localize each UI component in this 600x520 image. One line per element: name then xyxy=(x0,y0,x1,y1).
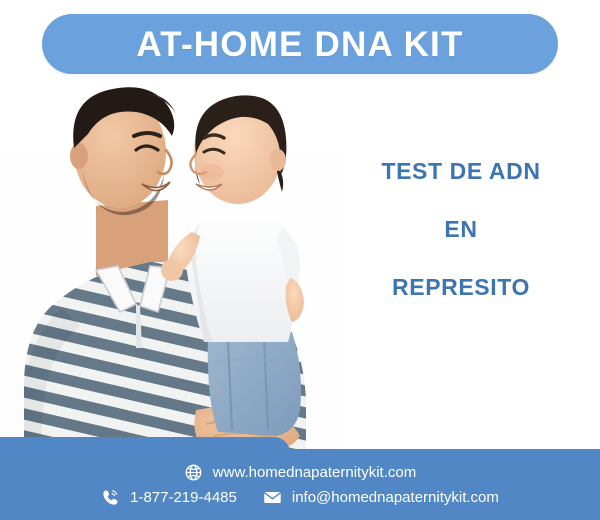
website-label: www.homednapaternitykit.com xyxy=(213,465,416,480)
poster: AT-HOME DNA KIT xyxy=(0,0,600,520)
header-banner: AT-HOME DNA KIT xyxy=(42,14,558,74)
headline-line-3: REPRESITO xyxy=(330,276,592,299)
footer-row-website: www.homednapaternitykit.com xyxy=(184,463,416,482)
headline-line-1: TEST DE ADN xyxy=(330,160,592,183)
email-label: info@homednapaternitykit.com xyxy=(292,490,499,505)
phone-item[interactable]: 1-877-219-4485 xyxy=(101,488,237,507)
footer-row-phone-email: 1-877-219-4485 info@homednapaternitykit.… xyxy=(101,488,499,507)
phone-label: 1-877-219-4485 xyxy=(130,490,237,505)
envelope-icon xyxy=(263,488,282,507)
website-item[interactable]: www.homednapaternitykit.com xyxy=(184,463,416,482)
page-title: AT-HOME DNA KIT xyxy=(136,27,463,62)
footer-contact-info: www.homednapaternitykit.com 1-877-219-44… xyxy=(0,449,600,520)
email-item[interactable]: info@homednapaternitykit.com xyxy=(263,488,499,507)
headline-line-2: EN xyxy=(330,218,592,241)
father-and-child-photo xyxy=(0,80,340,452)
globe-icon xyxy=(184,463,203,482)
headline-block: TEST DE ADN EN REPRESITO xyxy=(330,160,592,299)
phone-icon xyxy=(101,488,120,507)
